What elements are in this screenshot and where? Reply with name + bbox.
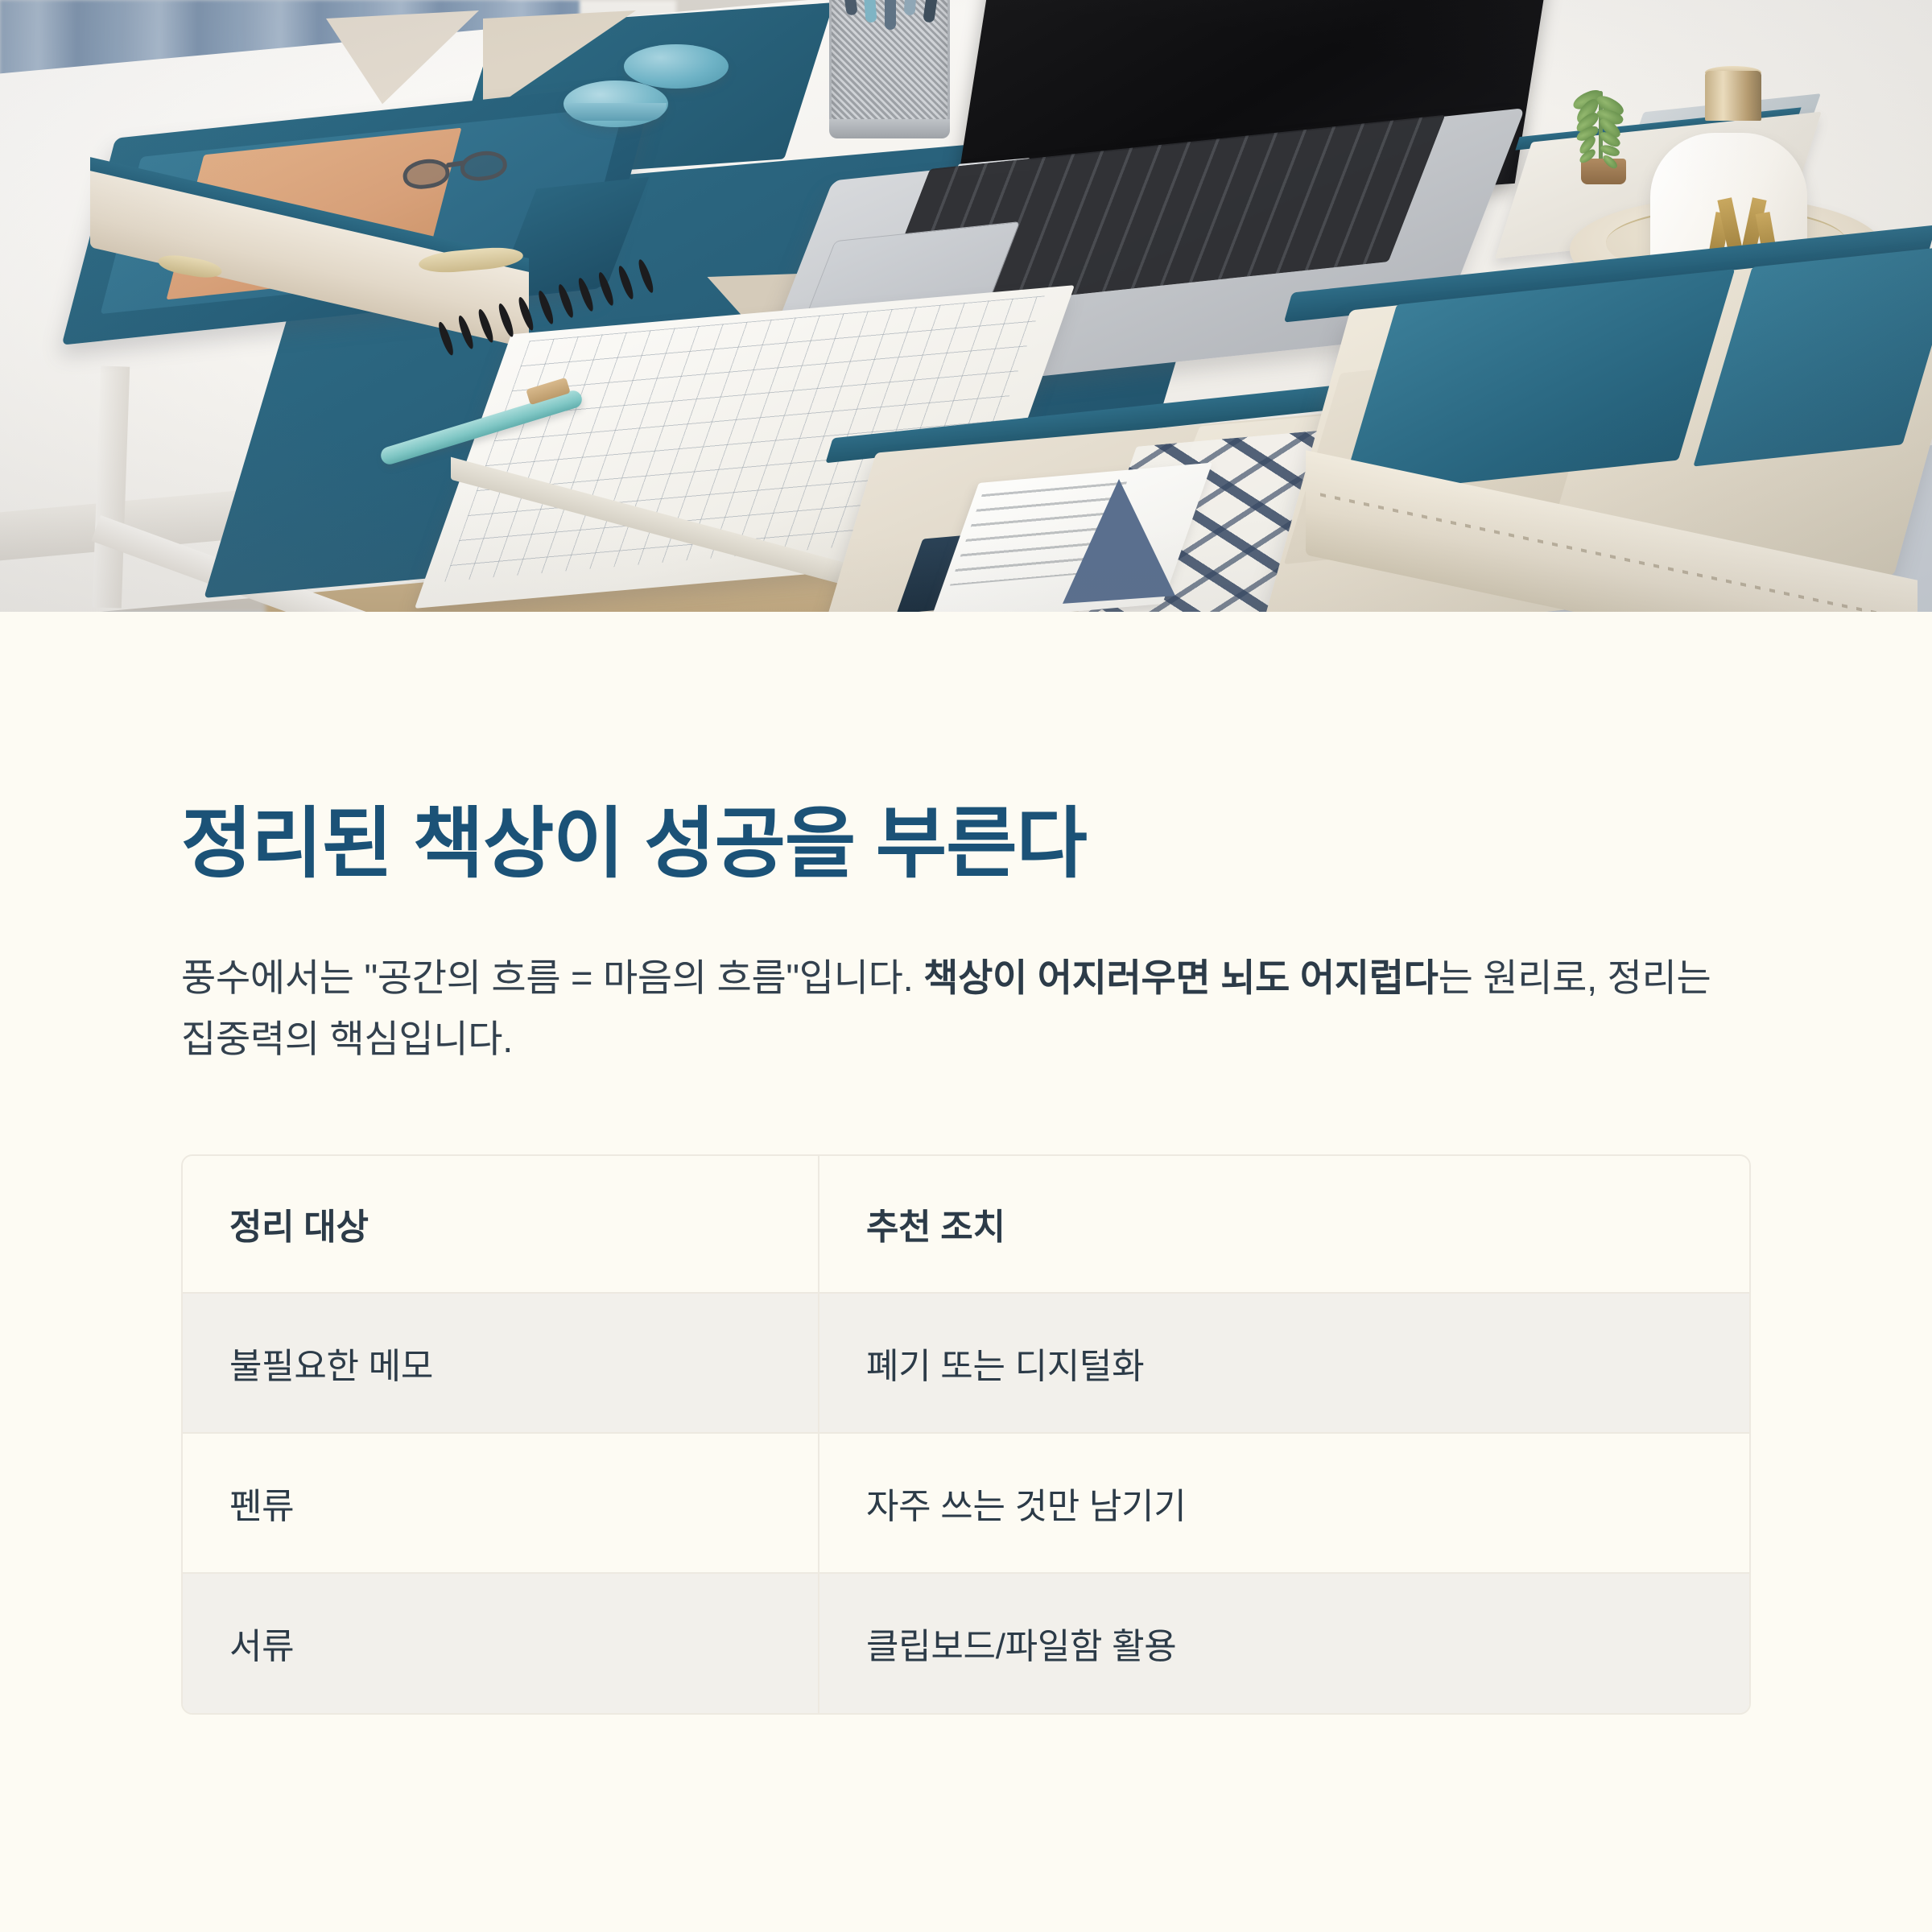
declutter-table-container: 정리 대상 추천 조치 불필요한 메모 폐기 또는 디지털화 펜류 자주 쓰는 …	[181, 1154, 1751, 1715]
cell-action: 자주 쓰는 것만 남기기	[819, 1433, 1749, 1573]
lens-right	[458, 148, 508, 184]
article-page: 정리된 책상이 성공을 부른다 풍수에서는 "공간의 흐름 = 마음의 흐름"입…	[0, 0, 1932, 1932]
table-row: 불필요한 메모 폐기 또는 디지털화	[183, 1293, 1749, 1433]
table-header-row: 정리 대상 추천 조치	[183, 1156, 1749, 1293]
table-row: 서류 클립보드/파일함 활용	[183, 1573, 1749, 1713]
table-row: 펜류 자주 쓰는 것만 남기기	[183, 1433, 1749, 1573]
cell-target: 펜류	[183, 1433, 819, 1573]
pen-in-cup	[862, 0, 877, 23]
column-header-target: 정리 대상	[183, 1156, 819, 1293]
lede-text-before: 풍수에서는 "공간의 흐름 = 마음의 흐름"입니다.	[181, 956, 923, 999]
desk-scene-illustration	[0, 0, 1932, 612]
article-content: 정리된 책상이 성공을 부른다 풍수에서는 "공간의 흐름 = 마음의 흐름"입…	[0, 799, 1932, 1715]
column-header-action: 추천 조치	[819, 1156, 1749, 1293]
lede-paragraph: 풍수에서는 "공간의 흐름 = 마음의 흐름"입니다. 책상이 어지러우면 뇌도…	[181, 947, 1751, 1070]
cell-action: 클립보드/파일함 활용	[819, 1573, 1749, 1713]
hero-image	[0, 0, 1932, 612]
pen-cup-base	[829, 119, 950, 138]
cell-target: 서류	[183, 1573, 819, 1713]
pen-in-cup	[839, 0, 858, 16]
potted-plant	[1554, 85, 1650, 173]
cell-action: 폐기 또는 디지털화	[819, 1293, 1749, 1433]
cell-target: 불필요한 메모	[183, 1293, 819, 1433]
page-title: 정리된 책상이 성공을 부른다	[181, 799, 1751, 890]
teal-tin-upper	[624, 44, 729, 89]
lens-left	[401, 156, 451, 192]
pad-triangle-motif	[326, 10, 479, 107]
table-body: 불필요한 메모 폐기 또는 디지털화 펜류 자주 쓰는 것만 남기기 서류 클립…	[183, 1293, 1749, 1713]
pen-in-cup	[904, 0, 919, 15]
mesh-pen-cup	[829, 0, 950, 133]
plant-pot	[1581, 159, 1626, 184]
pen-in-cup	[923, 0, 942, 23]
table-head: 정리 대상 추천 조치	[183, 1156, 1749, 1293]
teal-tin-lip	[565, 103, 667, 121]
card-triangle-motif	[1063, 475, 1175, 604]
bottle-gold-cap	[1705, 71, 1761, 121]
lede-text-emphasis: 책상이 어지러우면 뇌도 어지럽다	[923, 956, 1438, 999]
declutter-table: 정리 대상 추천 조치 불필요한 메모 폐기 또는 디지털화 펜류 자주 쓰는 …	[183, 1156, 1749, 1713]
pen-in-cup	[885, 0, 896, 30]
